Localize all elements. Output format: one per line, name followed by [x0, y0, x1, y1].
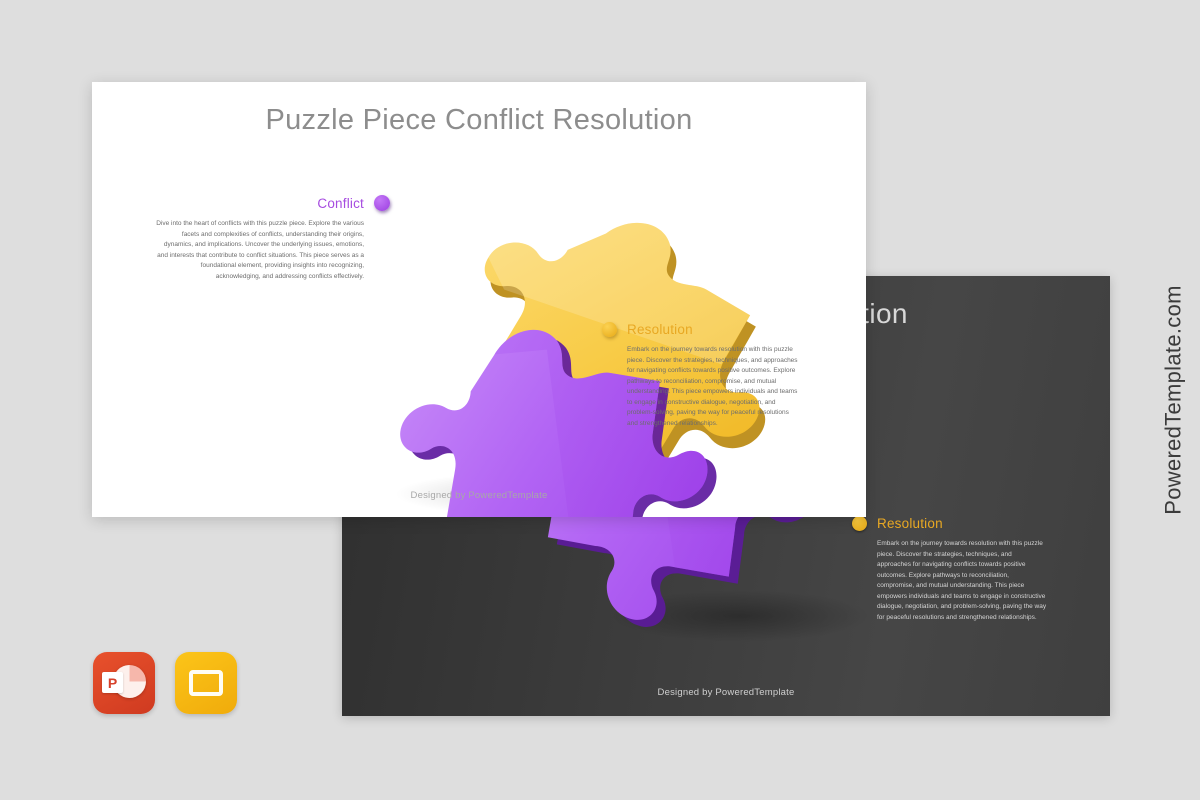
resolution-bullet-icon: [852, 516, 867, 531]
conflict-bullet-icon: [374, 195, 390, 211]
google-slides-icon[interactable]: [175, 652, 237, 714]
conflict-heading: Conflict: [317, 196, 364, 211]
powerpoint-icon[interactable]: P: [93, 652, 155, 714]
resolution-heading-row: Resolution: [852, 516, 1047, 531]
slide-dark-resolution-block: Resolution Embark on the journey towards…: [852, 516, 1047, 623]
slide-light-footer: Designed by PoweredTemplate: [92, 490, 866, 501]
slides-screen-glyph: [189, 670, 223, 696]
slide-light-title: Puzzle Piece Conflict Resolution: [92, 104, 866, 137]
slide-dark-footer: Designed by PoweredTemplate: [342, 687, 1110, 698]
format-icon-group: P: [93, 652, 237, 714]
resolution-body-text: Embark on the journey towards resolution…: [877, 539, 1047, 623]
preview-stage: Puzzle Piece Conflict Resolution Resolut…: [0, 0, 1200, 800]
resolution-body-text: Embark on the journey towards resolution…: [627, 345, 800, 429]
slide-light-conflict-block: Conflict Dive into the heart of conflict…: [155, 195, 390, 282]
brand-watermark: PoweredTemplate.com: [1152, 0, 1196, 800]
conflict-heading-row: Conflict: [155, 195, 390, 211]
slide-light-resolution-block: Resolution Embark on the journey towards…: [602, 322, 800, 429]
resolution-bullet-icon: [602, 322, 617, 337]
powerpoint-letter-glyph: P: [102, 672, 123, 693]
resolution-heading: Resolution: [627, 322, 693, 337]
slide-light[interactable]: Puzzle Piece Conflict Resolution Conflic…: [92, 82, 866, 517]
conflict-body-text: Dive into the heart of conflicts with th…: [155, 219, 364, 282]
resolution-heading: Resolution: [877, 516, 943, 531]
resolution-heading-row: Resolution: [602, 322, 800, 337]
brand-watermark-label: PoweredTemplate.com: [1161, 285, 1187, 514]
